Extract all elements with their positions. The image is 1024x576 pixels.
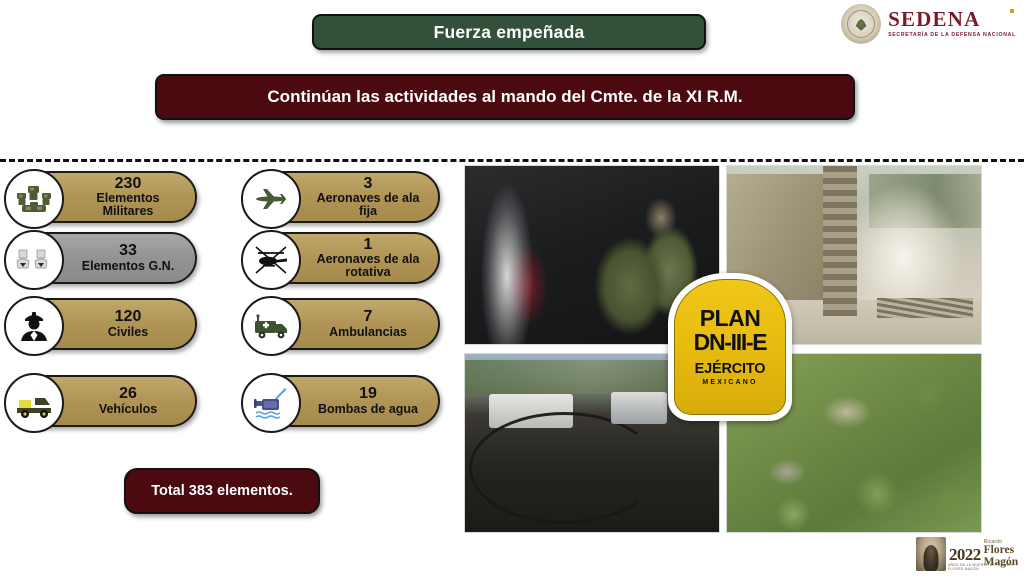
stat-pill-aeronaves-ala-rotativa: 1 Aeronaves de ala rotativa: [242, 232, 440, 284]
page-title: Fuerza empeñada: [312, 14, 706, 50]
slide-root: SEDENA SECRETARÍA DE LA DEFENSA NACIONAL…: [0, 0, 1024, 576]
stat-label: Ambulancias: [310, 326, 426, 339]
waterpump-icon: [241, 373, 301, 433]
stat-value: 3: [310, 176, 426, 193]
stat-value: 1: [310, 237, 426, 254]
badge-line-dn3e: DN-III-E: [694, 331, 767, 354]
stat-pill-text: 3 Aeronaves de ala fija: [310, 176, 438, 219]
flores-magon-portrait-icon: [916, 537, 946, 571]
stat-label: Civiles: [73, 326, 183, 339]
badge-line-mexicano: MEXICANO: [702, 379, 757, 386]
section-divider: [0, 159, 1024, 162]
stat-pill-text: 1 Aeronaves de ala rotativa: [310, 237, 438, 280]
badge-line-plan: PLAN: [700, 308, 761, 330]
stat-value: 7: [310, 309, 426, 326]
sedena-title: SEDENA: [888, 9, 1016, 30]
commemorative-logo-2022: 2022 Ricardo Flores Magón AÑOS DE LA MUE…: [916, 536, 1020, 572]
trucks-hose-loop: [469, 412, 659, 524]
mexico-seal-icon: [841, 4, 881, 44]
total-badge: Total 383 elementos.: [124, 468, 320, 514]
accent-dot-icon: [1010, 9, 1014, 13]
stat-pill-ambulancias: 7 Ambulancias: [242, 298, 440, 350]
stat-label: Bombas de agua: [310, 403, 426, 416]
stat-pill-elementos-gn: 33 Elementos G.N.: [5, 232, 197, 284]
drill-pipes: [877, 298, 973, 318]
stat-pill-text: 120 Civiles: [73, 309, 195, 339]
sedena-logo: SEDENA SECRETARÍA DE LA DEFENSA NACIONAL: [841, 4, 1016, 44]
stat-value: 230: [73, 176, 183, 193]
airplane-icon: [241, 169, 301, 229]
stat-label: Aeronaves de ala rotativa: [310, 253, 426, 279]
truck-icon: [4, 373, 64, 433]
stat-pill-vehiculos: 26 Vehículos: [5, 375, 197, 427]
logo-subtitle: AÑOS DE LA MUERTE DE RICARDO FLORES MAGÓ…: [948, 563, 1020, 571]
stat-pill-text: 7 Ambulancias: [310, 309, 438, 339]
stat-label: Vehículos: [73, 403, 183, 416]
civilian-icon: [4, 296, 64, 356]
stat-pill-aeronaves-ala-fija: 3 Aeronaves de ala fija: [242, 171, 440, 223]
plan-dn3e-badge: PLAN DN-III-E EJÉRCITO MEXICANO: [668, 273, 792, 421]
stat-value: 19: [310, 386, 426, 403]
stat-pill-text: 26 Vehículos: [73, 386, 195, 416]
page-subtitle: Continúan las actividades al mando del C…: [155, 74, 855, 120]
stat-value: 120: [73, 309, 183, 326]
stat-pill-bombas-de-agua: 19 Bombas de agua: [242, 375, 440, 427]
badge-line-ejercito: EJÉRCITO: [695, 361, 766, 377]
stat-label: Elementos G.N.: [73, 260, 183, 273]
stat-pill-text: 19 Bombas de agua: [310, 386, 438, 416]
stat-pill-elementos-militares: 230 Elementos Militares: [5, 171, 197, 223]
stat-pill-civiles: 120 Civiles: [5, 298, 197, 350]
page-subtitle-text: Continúan las actividades al mando del C…: [267, 87, 742, 107]
guard-icon: [4, 230, 64, 290]
total-text: Total 383 elementos.: [151, 483, 293, 499]
page-title-text: Fuerza empeñada: [434, 22, 585, 43]
stat-label: Aeronaves de ala fija: [310, 192, 426, 218]
soldiers-icon: [4, 169, 64, 229]
stat-value: 26: [73, 386, 183, 403]
sedena-subtitle: SECRETARÍA DE LA DEFENSA NACIONAL: [888, 33, 1016, 38]
stat-pill-text: 230 Elementos Militares: [73, 176, 195, 219]
ambulance-icon: [241, 296, 301, 356]
logo-year: 2022: [949, 546, 981, 563]
helicopter-icon: [241, 230, 301, 290]
sedena-logo-text: SEDENA SECRETARÍA DE LA DEFENSA NACIONAL: [888, 9, 1016, 38]
logo-name-line1: Flores: [984, 545, 1019, 557]
stat-value: 33: [73, 243, 183, 260]
stat-label: Elementos Militares: [73, 192, 183, 218]
stat-pill-text: 33 Elementos G.N.: [73, 243, 195, 273]
badge-inner: PLAN DN-III-E EJÉRCITO MEXICANO: [674, 279, 786, 415]
